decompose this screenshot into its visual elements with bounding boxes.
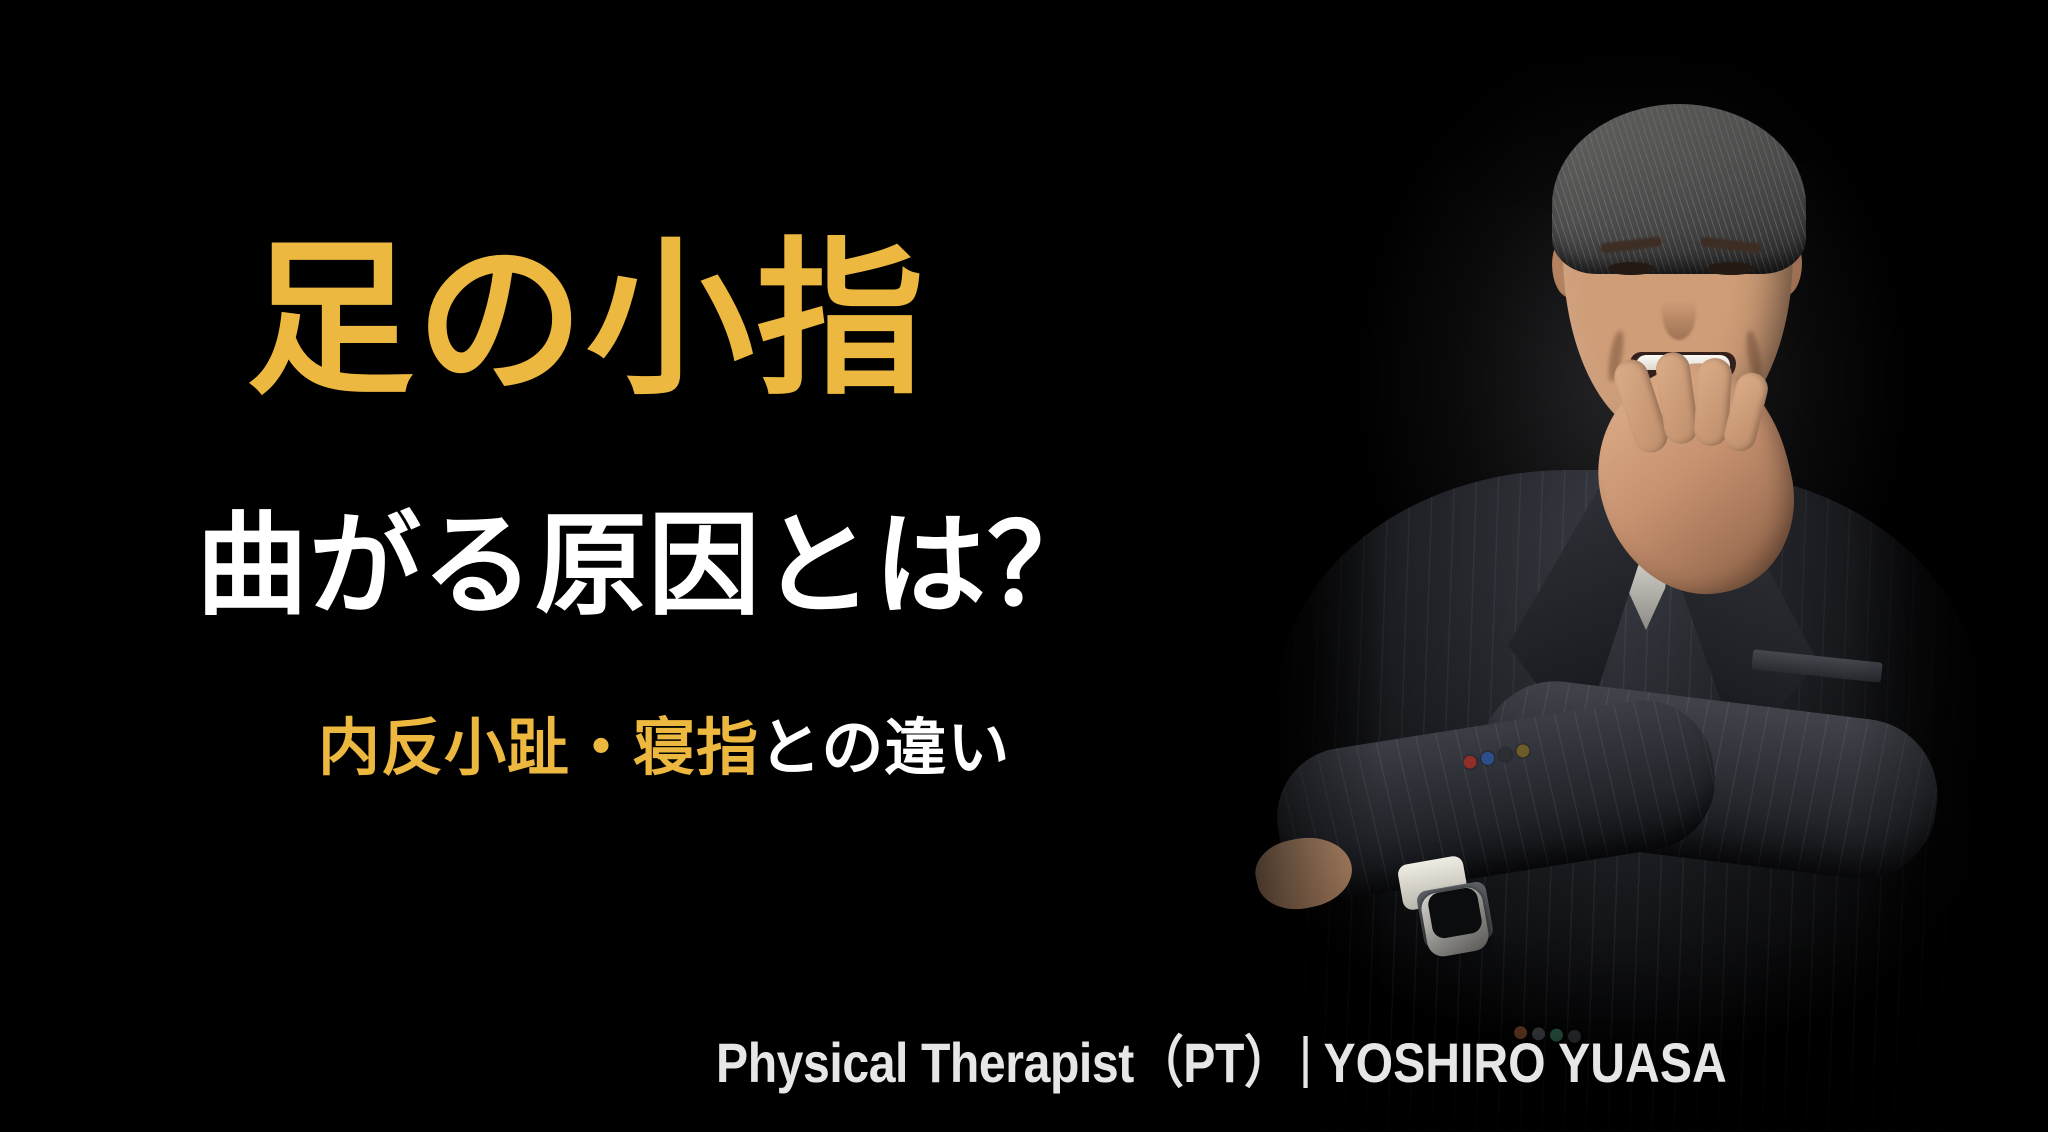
credit-divider-icon <box>1304 1036 1308 1088</box>
credit-role: Physical Therapist <box>716 1035 1134 1091</box>
suit-button <box>1480 751 1495 766</box>
portrait-photo <box>1148 0 2048 1132</box>
headline-line-2: 曲がる原因とは？ <box>196 510 1100 622</box>
tagline-rest: との違い <box>759 714 1010 783</box>
credit-qualification: （PT） <box>1136 1035 1292 1091</box>
headline-line-1: 足の小指 <box>246 236 926 404</box>
eye-right <box>1708 262 1754 275</box>
eye-left <box>1608 262 1654 275</box>
headline-block: 足の小指 曲がる原因とは？ 内反小趾・寝指との違い <box>0 0 1100 1132</box>
thumbnail-canvas: 足の小指 曲がる原因とは？ 内反小趾・寝指との違い Physical Thera… <box>0 0 2048 1132</box>
suit-button <box>1498 747 1513 762</box>
credit-name: YOSHIRO YUASA <box>1324 1035 1727 1091</box>
suit-button <box>1462 754 1477 769</box>
tagline: 内反小趾・寝指との違い <box>318 718 1010 780</box>
nose <box>1662 284 1696 340</box>
credit-bar: Physical Therapist （PT） YOSHIRO YUASA <box>716 1030 1727 1091</box>
watch-screen <box>1426 886 1483 940</box>
suit-button <box>1515 743 1530 758</box>
tagline-highlight: 内反小趾・寝指 <box>318 714 759 783</box>
